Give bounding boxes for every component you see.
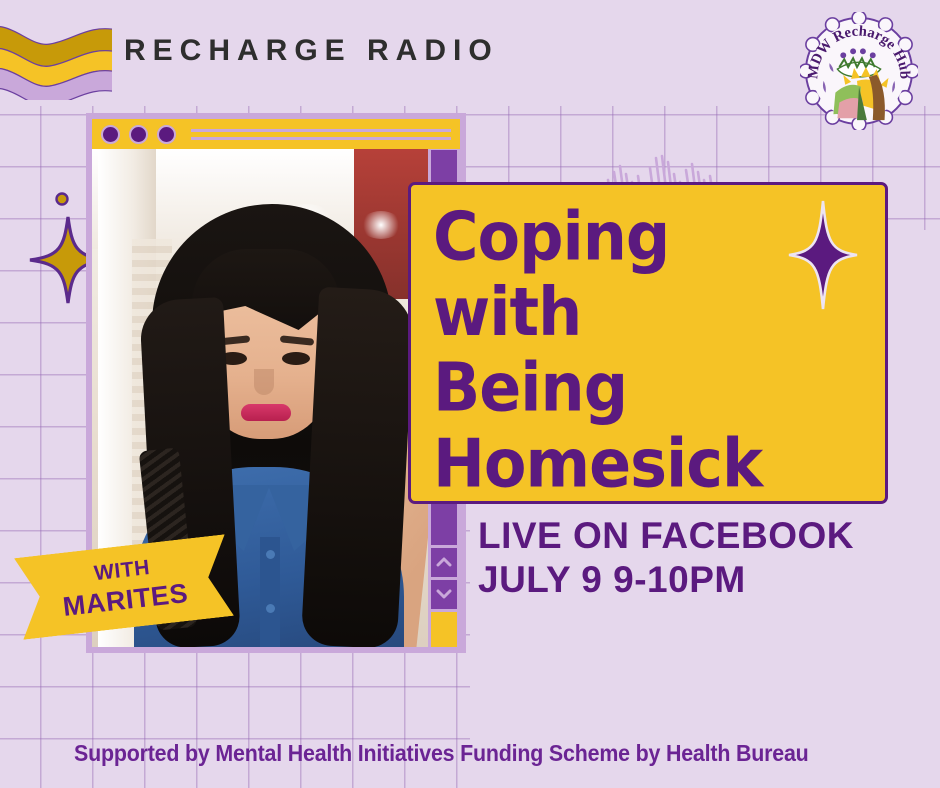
chevron-down-icon [436, 588, 452, 600]
poster-canvas: RECHARGE RADIO MDW Recharge Hub [0, 0, 940, 788]
photo-shirt-button-1 [266, 550, 275, 559]
sponsor-footer: Supported by Mental Health Initiatives F… [74, 740, 809, 767]
live-schedule: JULY 9 9-10PM [478, 558, 854, 602]
mdw-recharge-hub-badge: MDW Recharge Hub [800, 12, 918, 130]
window-titlebar [92, 119, 460, 149]
photo-shirt-button-2 [266, 604, 275, 613]
ribbon-line-name: MARITES [61, 577, 189, 622]
sparkle-star-right-icon [787, 199, 859, 311]
titlebar-line-2 [191, 137, 451, 140]
brand-title: RECHARGE RADIO [124, 34, 499, 68]
title-line-3: Being [433, 350, 762, 426]
photo-ceiling-light-2 [360, 211, 402, 239]
titlebar-line-1 [191, 129, 451, 132]
titlebar-address-lines [191, 129, 451, 140]
scrollbar-end-block[interactable] [431, 612, 457, 647]
photo-hair-right [301, 287, 416, 647]
title-card: Coping with Being Homesick [408, 182, 888, 504]
photo-eye-right [282, 352, 310, 365]
wave-stripes-logo [0, 22, 112, 100]
dot-circle-small-upper-icon [54, 191, 70, 207]
episode-title: Coping with Being Homesick [433, 199, 762, 501]
title-line-1: Coping [433, 199, 762, 275]
ribbon-line-with: WITH [93, 556, 151, 586]
titlebar-dot-2-icon[interactable] [129, 125, 148, 144]
title-line-4: Homesick [433, 426, 762, 502]
live-info-block: LIVE ON FACEBOOK JULY 9 9-10PM [478, 514, 854, 602]
photo-lips [241, 404, 291, 421]
chevron-up-icon [436, 556, 452, 568]
titlebar-dot-1-icon[interactable] [101, 125, 120, 144]
photo-nose [254, 369, 274, 395]
scroll-up-button[interactable] [431, 548, 457, 577]
title-line-2: with [433, 275, 762, 351]
titlebar-dot-3-icon[interactable] [157, 125, 176, 144]
live-platform: LIVE ON FACEBOOK [478, 514, 854, 558]
scroll-down-button[interactable] [431, 580, 457, 609]
